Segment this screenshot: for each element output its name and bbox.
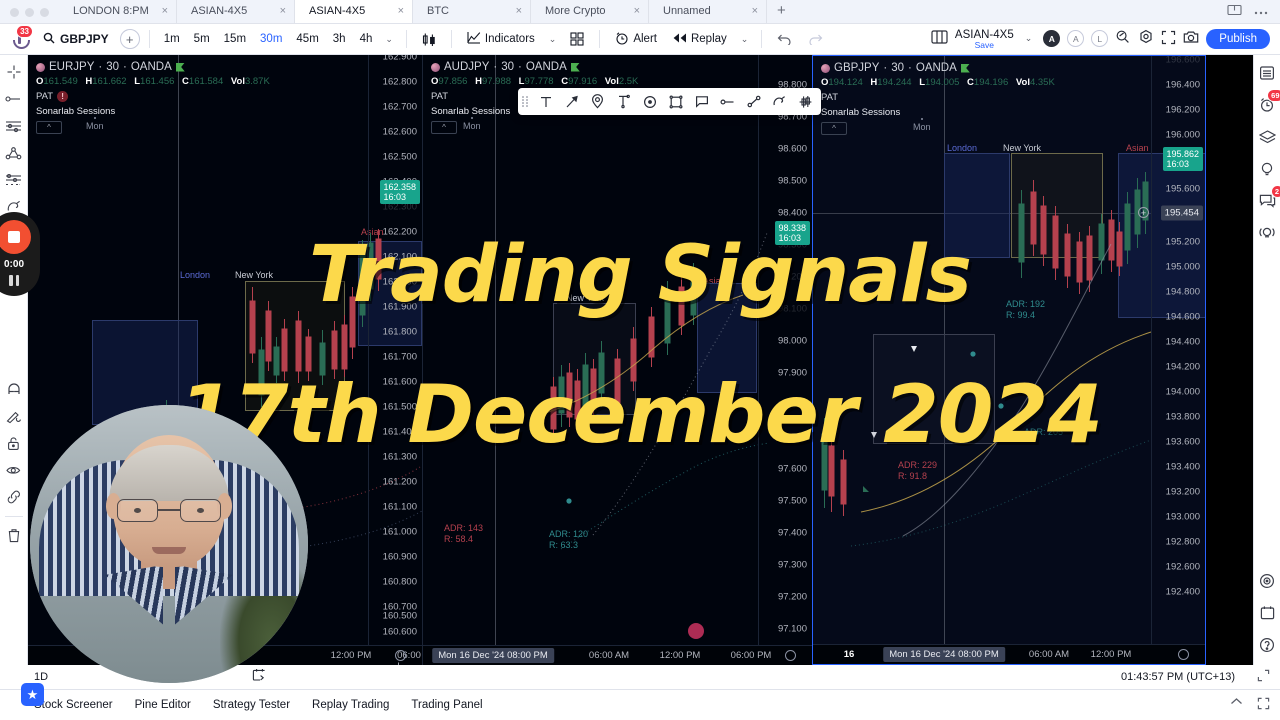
chart-exchange: OANDA <box>916 62 957 74</box>
drag-handle[interactable] <box>522 95 529 109</box>
chevron-down-icon[interactable]: ⌄ <box>1021 33 1037 44</box>
arrow-marker-icon[interactable] <box>560 91 583 113</box>
time-axis[interactable]: Mon 16 Dec '24 08:00 PM 06:00 AM 12:00 P… <box>423 645 812 665</box>
lock-tool[interactable] <box>2 431 26 455</box>
time-tick: 06:00 AM <box>589 650 629 661</box>
browser-tab-bar: LONDON 8:PM × ASIAN-4X5 × ASIAN-4X5 × BT… <box>0 0 1280 24</box>
symbol-label: GBPJPY <box>60 32 109 46</box>
divider <box>599 30 600 48</box>
symbol-search-button[interactable]: GBPJPY <box>36 27 116 52</box>
floating-drawing-toolbar[interactable] <box>518 88 821 115</box>
chart-symbol[interactable]: GBPJPY <box>834 62 879 74</box>
candle-style-icon[interactable] <box>416 29 442 50</box>
rectangle-icon[interactable] <box>664 91 687 113</box>
add-symbol-button[interactable]: + <box>120 29 140 49</box>
new-tab-button[interactable]: + <box>767 2 796 23</box>
publish-button[interactable]: Publish <box>1206 29 1270 49</box>
tab-label: Unnamed <box>663 5 711 17</box>
timeframe-15m[interactable]: 15m <box>219 30 251 48</box>
chart-title: GBPJPY · 30 · OANDA <box>821 62 1060 74</box>
tab-asian-4x5-2[interactable]: ASIAN-4X5 × <box>295 0 413 23</box>
circle-marker-icon[interactable] <box>638 91 661 113</box>
ohlc-values: O194.124 H194.244 L194.005 C194.196 Vol4… <box>821 77 1060 88</box>
chevron-down-icon[interactable]: ⌄ <box>545 34 561 45</box>
time-axis-settings-icon[interactable] <box>1178 649 1189 660</box>
chart-symbol[interactable]: AUDJPY <box>444 61 489 73</box>
callout-icon[interactable] <box>690 91 713 113</box>
chart-pane-audjpy[interactable]: AUDJPY · 30 · OANDA O97.856 H97.988 L97.… <box>422 55 812 665</box>
panel-strategy-tester[interactable]: Strategy Tester <box>213 699 290 711</box>
chart-exchange: OANDA <box>131 61 172 73</box>
chart-interval[interactable]: 30 <box>501 61 514 73</box>
search-icon <box>43 32 55 47</box>
close-icon[interactable]: × <box>162 5 168 17</box>
current-price-badge: 98.338 16:03 <box>775 221 810 245</box>
tab-london-8pm[interactable]: LONDON 8:PM × <box>59 0 177 23</box>
layout-name-button[interactable]: ASIAN-4X5 Save <box>955 29 1014 50</box>
time-tick: 06:00 AM <box>1029 649 1069 660</box>
alerts-icon[interactable]: 69 <box>1256 93 1279 116</box>
adr-label-audjpy: ADR: 120 R: 63.3 <box>549 529 588 551</box>
chart-symbol[interactable]: EURJPY <box>49 61 94 73</box>
panel-pine-editor[interactable]: Pine Editor <box>135 699 191 711</box>
chart-toolbar: 33 GBPJPY + 1m 5m 15m 30m 45m 3h 4h ⌄ <box>0 24 1280 55</box>
price-candles <box>821 116 1161 665</box>
text-icon[interactable] <box>534 91 557 113</box>
close-window-button[interactable] <box>10 8 19 17</box>
crosshair-price-label: 195.454 <box>1161 206 1203 221</box>
tracker-icon[interactable] <box>1256 569 1279 592</box>
remove-drawings-tool[interactable] <box>2 523 26 547</box>
panel-replay-trading[interactable]: Replay Trading <box>312 699 389 711</box>
indicator-pat[interactable]: PAT ! <box>36 91 275 102</box>
panel-trading-panel[interactable]: Trading Panel <box>411 699 482 711</box>
minimize-window-button[interactable] <box>25 8 34 17</box>
window-controls[interactable] <box>0 8 59 23</box>
tab-label: More Crypto <box>545 5 606 17</box>
hotlist-icon[interactable] <box>1256 157 1279 180</box>
split-window-icon[interactable] <box>1227 4 1242 19</box>
tabbar-right-controls <box>1227 4 1280 23</box>
pause-recording-button[interactable] <box>9 275 19 287</box>
time-tick: 16 <box>844 649 855 660</box>
trend-line-icon[interactable] <box>742 91 765 113</box>
line-icon[interactable] <box>716 91 739 113</box>
candle-pattern-icon[interactable] <box>794 91 817 113</box>
warning-icon: ! <box>57 91 68 102</box>
indicator-pat[interactable]: PAT <box>821 92 1060 103</box>
ohlc-values: O97.856 H97.988 L97.778 C97.916 Vol2.5K <box>431 76 643 87</box>
chart-pane-gbpjpy[interactable]: GBPJPY · 30 · OANDA O194.124 H194.244 L1… <box>812 55 1206 665</box>
replay-button[interactable]: Replay <box>667 29 733 50</box>
avatar[interactable]: A <box>1067 30 1084 47</box>
price-axis[interactable]: 196.600 196.400 196.200 196.000 195.800 … <box>1151 56 1205 664</box>
layout-save-label: Save <box>955 41 1014 50</box>
fib-tool[interactable] <box>2 141 26 165</box>
chart-exchange: OANDA <box>526 61 567 73</box>
timeframe-30m[interactable]: 30m <box>255 30 287 48</box>
chart-title: AUDJPY · 30 · OANDA <box>431 61 643 73</box>
brush-icon[interactable] <box>768 91 791 113</box>
calendar-icon[interactable] <box>1256 601 1279 624</box>
indicators-icon <box>467 31 481 47</box>
magnet-tool[interactable] <box>2 377 26 401</box>
tab-unnamed[interactable]: Unnamed × <box>649 0 767 23</box>
bull-marker-icon <box>688 623 704 639</box>
tab-asian-4x5-1[interactable]: ASIAN-4X5 × <box>177 0 295 23</box>
flag-icon <box>571 63 580 72</box>
drawing-tools-sidebar: 0:00 <box>0 55 28 665</box>
alerts-badge: 69 <box>1267 89 1280 102</box>
symbol-logo-icon <box>821 64 830 73</box>
crosshair-price-marker-icon: + <box>1138 207 1149 218</box>
adr-label-1: ADR: 192 R: 99.4 <box>1006 299 1045 321</box>
camera-icon[interactable] <box>1183 30 1199 47</box>
time-tick: 12:00 PM <box>660 650 701 661</box>
chat-badge: 2 <box>1271 185 1280 198</box>
layout-name-label: ASIAN-4X5 <box>955 29 1014 41</box>
drawing-mode-tool[interactable] <box>2 404 26 428</box>
symbol-logo-icon <box>36 63 45 72</box>
tab-label: LONDON 8:PM <box>73 5 149 17</box>
notification-badge: 33 <box>16 25 33 38</box>
avatar[interactable]: L <box>1091 30 1108 47</box>
timeframe-4h[interactable]: 4h <box>355 30 378 48</box>
alert-label: Alert <box>633 33 657 45</box>
time-tick: 06:00 PM <box>731 650 772 661</box>
close-icon[interactable]: × <box>398 5 404 17</box>
close-icon[interactable]: × <box>634 5 640 17</box>
chart-title: EURJPY · 30 · OANDA <box>36 61 275 73</box>
more-options-icon[interactable] <box>1254 6 1268 18</box>
price-axis[interactable]: 98.800 98.700 98.600 98.500 98.400 98.30… <box>758 55 812 665</box>
measure-icon[interactable] <box>612 91 635 113</box>
stop-recording-button[interactable] <box>0 220 31 254</box>
chevron-down-icon[interactable]: ⌄ <box>381 34 397 45</box>
close-icon[interactable]: × <box>516 5 522 17</box>
time-badge: Mon 16 Dec '24 08:00 PM <box>883 647 1005 662</box>
horizontal-lines-tool[interactable] <box>2 114 26 138</box>
indicators-label: Indicators <box>485 33 535 45</box>
sync-drawings-tool[interactable] <box>2 485 26 509</box>
chart-clock: 01:43:57 PM (UTC+13) <box>1121 671 1243 683</box>
tradingview-app: LONDON 8:PM × ASIAN-4X5 × ASIAN-4X5 × BT… <box>0 0 1280 720</box>
flag-icon <box>961 64 970 73</box>
bottom-right-controls <box>1230 697 1280 713</box>
presenter-webcam <box>30 405 308 683</box>
collapse-legend-button[interactable]: ^ <box>36 121 62 134</box>
timeframe-1m[interactable]: 1m <box>159 30 185 48</box>
adr-label-3: ADR: 205 <box>1024 427 1063 438</box>
current-price-badge: 162.358 16:03 <box>380 180 420 204</box>
timeframe-5m[interactable]: 5m <box>189 30 215 48</box>
time-axis-settings-icon[interactable] <box>785 650 796 661</box>
divider <box>149 30 150 48</box>
divider <box>5 516 23 517</box>
pin-icon[interactable] <box>586 91 609 113</box>
undo-icon[interactable] <box>771 30 798 48</box>
help-icon[interactable] <box>1256 633 1279 656</box>
ohlc-values: O161.549 H161.662 L161.456 C161.584 Vol3… <box>36 76 275 87</box>
star-icon[interactable]: ★ <box>21 683 44 706</box>
adr-label-eurjpy: ADR: 143 R: 58.4 <box>444 523 483 545</box>
time-axis-settings-icon[interactable] <box>395 650 406 661</box>
divider <box>406 30 407 48</box>
trend-line-tool[interactable] <box>2 87 26 111</box>
close-icon[interactable]: × <box>752 5 758 17</box>
tab-label: ASIAN-4X5 <box>191 5 247 17</box>
tab-more-crypto[interactable]: More Crypto × <box>531 0 649 23</box>
settings-icon[interactable] <box>1138 29 1154 48</box>
chart-interval[interactable]: 30 <box>106 61 119 73</box>
alert-button[interactable]: Alert <box>609 28 663 51</box>
recording-timer: 0:00 <box>4 259 24 270</box>
multi-layout-icon[interactable] <box>931 30 948 47</box>
current-price-badge: 195.862 16:03 <box>1163 147 1203 171</box>
maximize-window-button[interactable] <box>40 8 49 17</box>
avatar[interactable]: A <box>1043 30 1060 47</box>
divider <box>761 30 762 48</box>
fullscreen-icon[interactable] <box>1161 30 1176 48</box>
crosshair-tool[interactable] <box>2 60 26 84</box>
toolbar-right-group: ASIAN-4X5 Save ⌄ A A L <box>931 29 1274 50</box>
right-sidebar: 69 2 <box>1253 55 1280 665</box>
panel-stock-screener[interactable]: Stock Screener <box>34 699 113 711</box>
timeframe-3h[interactable]: 3h <box>328 30 351 48</box>
tab-btc[interactable]: BTC × <box>413 0 531 23</box>
time-tick: 12:00 PM <box>1091 649 1132 660</box>
screen-recorder-widget[interactable]: 0:00 <box>0 212 40 296</box>
chart-interval[interactable]: 30 <box>891 62 904 74</box>
expand-icon[interactable] <box>1257 669 1280 685</box>
tab-label: BTC <box>427 5 449 17</box>
layout-templates-icon[interactable] <box>564 29 590 49</box>
bottom-panel-bar: Stock Screener Pine Editor Strategy Test… <box>0 690 1280 720</box>
redo-icon[interactable] <box>802 30 829 48</box>
indicators-button[interactable]: Indicators <box>461 28 541 50</box>
divider <box>451 30 452 48</box>
alarm-clock-icon <box>615 31 629 48</box>
price-candles <box>443 115 773 665</box>
tab-label: ASIAN-4X5 <box>309 5 365 17</box>
hide-drawings-tool[interactable] <box>2 458 26 482</box>
broadcast-icon[interactable] <box>1256 221 1279 244</box>
close-icon[interactable]: × <box>280 5 286 17</box>
data-window-icon[interactable] <box>1256 125 1279 148</box>
replay-label: Replay <box>691 33 727 45</box>
watchlist-icon[interactable] <box>1256 61 1279 84</box>
tradingview-logo[interactable]: 33 <box>6 26 32 52</box>
price-axis[interactable]: 162.900 162.800 162.700 162.600 162.500 … <box>368 55 422 665</box>
chat-icon[interactable]: 2 <box>1256 189 1279 212</box>
time-tick: 12:00 PM <box>331 650 372 661</box>
chevron-up-icon[interactable] <box>1230 697 1243 713</box>
adr-label-2: ADR: 229 R: 91.8 <box>898 460 937 482</box>
timeframe-45m[interactable]: 45m <box>291 30 323 48</box>
chevron-down-icon[interactable]: ⌄ <box>737 34 753 45</box>
time-axis[interactable]: 16 Mon 16 Dec '24 08:00 PM 06:00 AM 12:0… <box>813 644 1205 664</box>
replay-icon <box>673 32 687 47</box>
pattern-tool[interactable] <box>2 168 26 192</box>
symbol-logo-icon <box>431 63 440 72</box>
quick-search-icon[interactable] <box>1115 29 1131 48</box>
time-badge: Mon 16 Dec '24 08:00 PM <box>432 648 554 663</box>
maximize-icon[interactable] <box>1257 697 1270 713</box>
